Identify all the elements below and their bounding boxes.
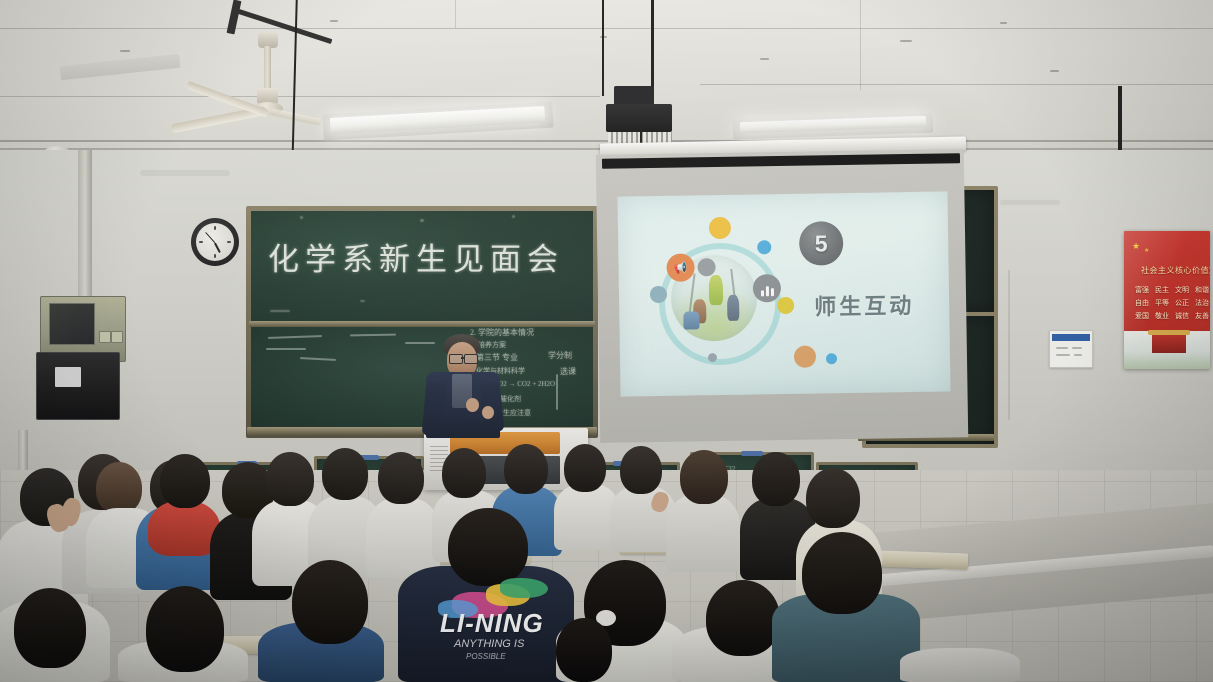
blackboard-note: 2. 学院的基本情况 [470,327,534,338]
bar [766,286,769,296]
poster-values-row-2: 自由 平等 公正 法治 [1135,298,1209,308]
cabinet-button[interactable] [111,331,123,343]
clock-tick [199,241,203,243]
blackboard-note: 选课 [560,366,576,377]
wall-mark [140,170,230,176]
bar [761,290,764,296]
wall-seam [1008,270,1010,420]
slide-number-badge: 5 [799,221,844,266]
notice-card [1049,330,1093,368]
clock-minute-hand [205,231,215,242]
student-head [806,468,860,528]
wall-mark [1000,200,1060,205]
tiananmen-gate-icon [1152,333,1186,353]
blackboard-note: 学分制 [548,350,572,361]
presenter-hand [482,406,494,419]
student-body [900,648,1020,682]
blackboard-note: 培养方案 [478,340,506,350]
slide-dot-gold [777,297,794,314]
presenter-hand [466,398,479,412]
ceiling-seam [455,0,456,28]
student-head [14,588,86,668]
hanging-wire [1118,86,1122,152]
blackboard-title-text: 化学系新生见面会 [268,234,564,279]
student-head [556,618,612,682]
lining-sub-text: ANYTHING IS [454,638,524,650]
student-head [504,444,548,494]
poster-value: 友善 [1195,311,1209,321]
slide-title: 师生互动 [814,288,915,322]
chalk-dust [300,216,303,219]
poster-title: 社会主义核心价值观 [1141,265,1210,276]
clock-face [196,223,234,261]
student-head [96,462,142,514]
clock-tick [214,254,216,258]
student-body [666,494,740,572]
slide-dot-yellow [709,217,731,239]
slide-dot-blue [826,353,837,364]
poster-value: 自由 [1135,298,1149,308]
poster-value: 敬业 [1155,311,1169,321]
gate-roof [1148,330,1190,335]
chalk-dust [420,219,424,222]
clock-tick [214,226,216,230]
clock-hour-hand [214,242,221,252]
student-head [322,448,368,500]
eyeglasses-icon [449,354,463,364]
ceiling-mark [1050,70,1059,72]
blackboard-note: 催化剂 [500,394,521,404]
student-head [706,580,780,656]
hanging-wire [651,0,654,92]
student-head [266,452,314,506]
poster-value: 公正 [1175,298,1189,308]
fan-rod [264,46,271,90]
slide-dot-blue [757,240,771,254]
board-clip [741,451,763,456]
ceiling-seam [860,0,861,90]
eyeglasses-icon [464,354,478,364]
lining-brand-text: LI-NING [440,608,544,639]
student-head [680,450,728,504]
poster-value: 和谐 [1195,285,1209,295]
chalk-dust [270,310,290,312]
student-head [564,444,606,492]
ceiling-seam [700,84,1213,85]
student-head [160,454,210,508]
clock-tick [227,241,231,243]
student-head [448,508,528,586]
student-head [292,560,368,644]
poster-value: 法治 [1195,298,1209,308]
ceiling-mark [900,40,912,42]
poster-value: 平等 [1155,298,1169,308]
jacket-graphic [500,578,548,598]
blackboard-note: 第三节 专业 [476,352,518,363]
chalk-stroke [266,348,306,350]
notice-text-line [1074,354,1082,356]
speaker-box [36,352,120,420]
chalk-dust [512,215,515,218]
ceiling-projector [606,104,672,132]
poster-values-row-3: 爱国 敬业 诚信 友善 [1135,311,1209,321]
ceiling-mark [120,50,130,52]
slide-dot-tan [794,346,816,368]
notice-text-line [1056,354,1070,356]
ceiling-seam [0,96,600,97]
student-head [620,446,662,494]
cabinet-window [49,303,95,345]
slide-dot-gray [708,353,717,362]
hanging-wire [602,0,604,96]
lecture-hall-photo: 化学系新生见面会 2. 学院的基本情况 培养方案 第三节 专业 学分制 化学与材… [0,0,1213,682]
lining-sub-text-2: POSSIBLE [466,652,506,661]
poster-value: 文明 [1175,285,1189,295]
chalk-stroke [405,342,435,344]
student-head [378,452,424,504]
student-head [752,452,800,506]
notice-header-band [1052,334,1090,341]
poster-value: 诚信 [1175,311,1189,321]
projection-screen-surface: 📢 5 师生互动 [617,191,950,396]
speaker-label [55,367,81,387]
bar [771,288,774,296]
notice-text-line [1072,347,1082,349]
poster-value: 富强 [1135,285,1149,295]
poster-value: 爱国 [1135,311,1149,321]
ceiling-mark [760,58,769,60]
chalk-dust [360,300,365,302]
notice-text-line [1056,347,1068,349]
core-values-poster: ★ ★ 社会主义核心价值观 富强 民主 文明 和谐 自由 平等 公正 法治 爱国… [1124,231,1210,369]
star-icon: ★ [1132,241,1140,252]
photo-person [727,295,739,321]
ceiling-mark [1000,22,1007,24]
chalk-stroke [556,374,558,410]
ceiling-mark [330,20,338,22]
student-body [366,498,440,578]
photo-person [709,275,723,305]
star-icon: ★ [1144,247,1149,254]
ceiling-seam [0,28,1213,29]
student-head [442,448,486,498]
ceiling-seam [0,140,1213,142]
student-desk [878,550,969,569]
student-head [802,532,882,614]
cabinet-button[interactable] [99,331,111,343]
student-head [146,586,224,672]
eyeglasses-bridge [461,357,464,359]
poster-value: 民主 [1155,285,1169,295]
photo-person [683,311,699,329]
poster-values-row-1: 富强 民主 文明 和谐 [1135,285,1209,295]
